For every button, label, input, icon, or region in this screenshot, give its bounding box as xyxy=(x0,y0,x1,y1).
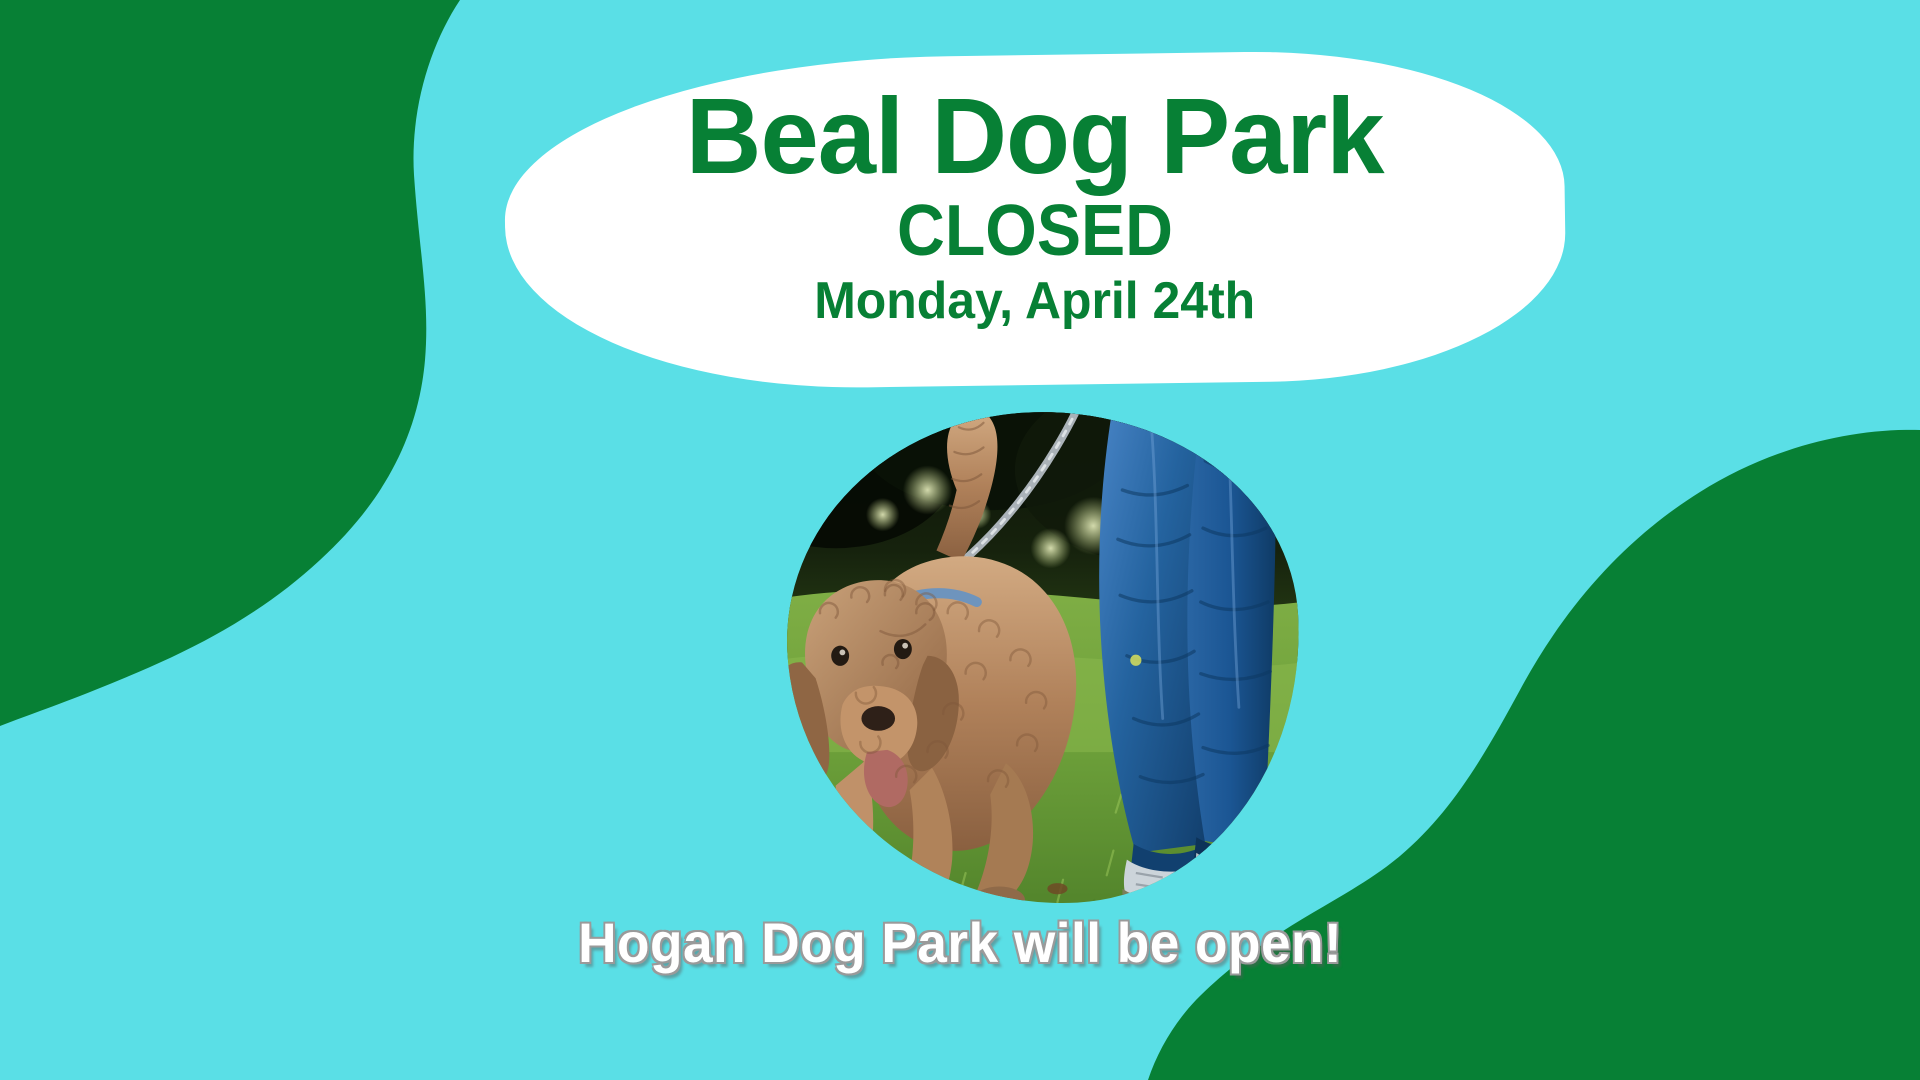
headline-card: Beal Dog Park CLOSED Monday, April 24th xyxy=(505,55,1565,385)
caption-row: Hogan Dog Park will be open! xyxy=(0,910,1920,975)
status-badge: CLOSED xyxy=(897,195,1173,267)
dog-photo xyxy=(775,399,1312,917)
headline-text-group: Beal Dog Park CLOSED Monday, April 24th xyxy=(505,55,1565,385)
poster-canvas: Beal Dog Park CLOSED Monday, April 24th xyxy=(0,0,1920,1080)
dog-photo-illustration xyxy=(775,399,1312,917)
closure-date: Monday, April 24th xyxy=(815,275,1256,327)
open-park-notice: Hogan Dog Park will be open! xyxy=(578,910,1342,975)
page-title: Beal Dog Park xyxy=(686,81,1384,191)
